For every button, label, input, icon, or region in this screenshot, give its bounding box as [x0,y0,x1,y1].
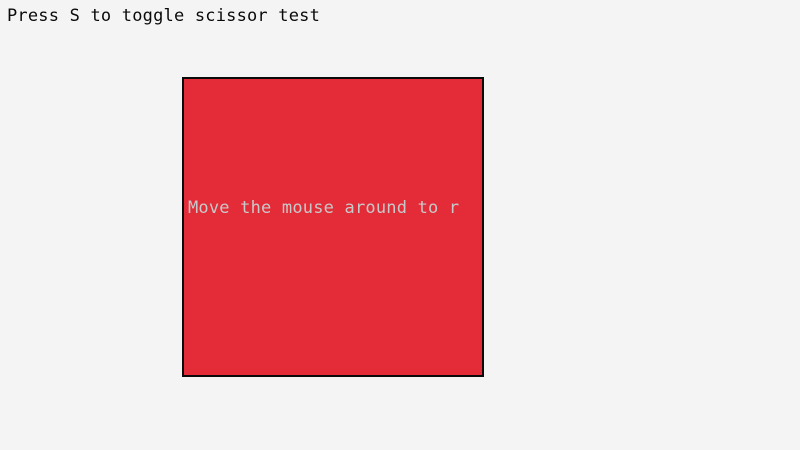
scissor-toggle-hint: Press S to toggle scissor test [7,6,320,26]
scissor-test-rectangle[interactable]: Move the mouse around to r [182,77,484,377]
app-canvas: Press S to toggle scissor test Move the … [0,0,800,450]
scissor-clipped-label: Move the mouse around to r [188,197,484,219]
